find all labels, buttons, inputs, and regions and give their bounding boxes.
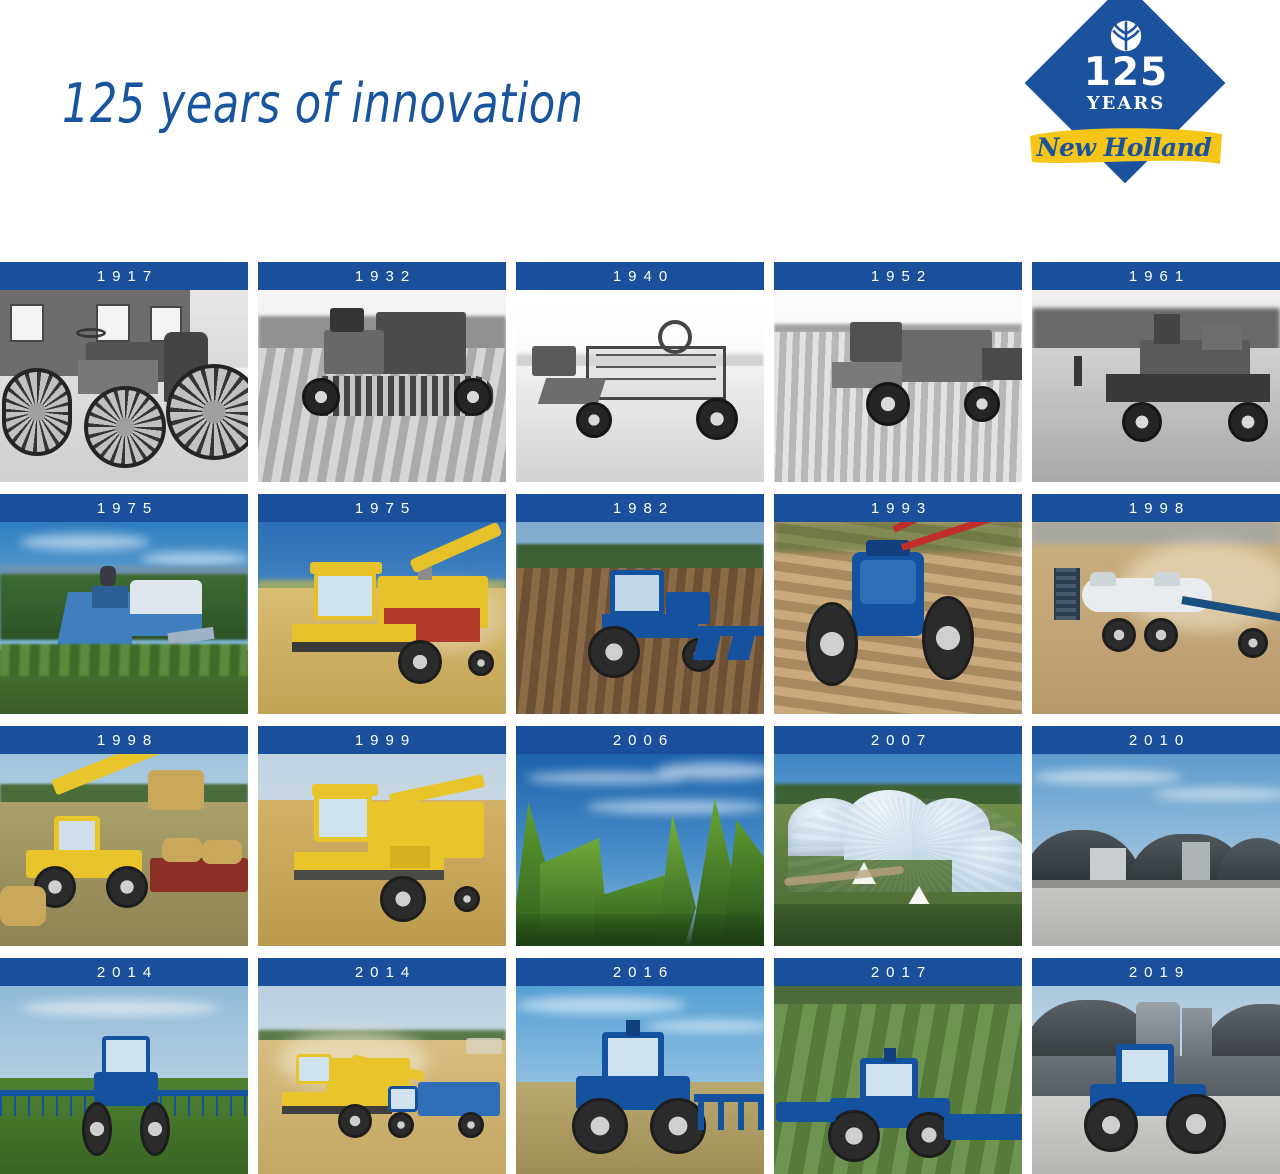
tile-photo-1975-combine-harvester <box>258 522 506 714</box>
timeline-tile[interactable]: 1952 <box>774 262 1022 482</box>
leaf-emblem-icon <box>1110 20 1142 52</box>
poster-page: 125 years of innovation 125 YEARS <box>0 0 1280 1174</box>
tile-year-label: 2019 <box>1032 958 1280 986</box>
timeline-tile[interactable]: 2017 <box>774 958 1022 1174</box>
timeline-tile[interactable]: 2014 <box>258 958 506 1174</box>
timeline-tile[interactable]: 1975 <box>258 494 506 714</box>
logo-years-label: YEARS <box>1087 95 1166 113</box>
timeline-tile[interactable]: 1917 <box>0 262 248 482</box>
tile-year-label: 2007 <box>774 726 1022 754</box>
tile-photo-2014-combine-unloading <box>258 986 506 1174</box>
tile-year-label: 1961 <box>1032 262 1280 290</box>
tile-year-label: 1982 <box>516 494 764 522</box>
timeline-tile[interactable]: 2006 <box>516 726 764 946</box>
timeline-tile[interactable]: 2016 <box>516 958 764 1174</box>
tile-photo-1999-tx-combine <box>258 754 506 946</box>
tile-year-label: 1975 <box>0 494 248 522</box>
timeline-tile[interactable]: 2007 <box>774 726 1022 946</box>
tile-photo-1961-forage-harvester <box>1032 290 1280 482</box>
tile-year-label: 2010 <box>1032 726 1280 754</box>
timeline-tile[interactable]: 1993 <box>774 494 1022 714</box>
tile-photo-1917-vintage-tractor <box>0 290 248 482</box>
timeline-tile[interactable]: 2019 <box>1032 958 1280 1174</box>
tile-year-label: 1940 <box>516 262 764 290</box>
tile-year-label: 1998 <box>0 726 248 754</box>
logo-content: 125 YEARS New Holland <box>1026 6 1226 206</box>
tile-year-label: 1999 <box>258 726 506 754</box>
timeline-tile[interactable]: 1998 <box>1032 494 1280 714</box>
new-holland-125-years-logo: 125 YEARS New Holland <box>1026 6 1226 206</box>
logo-brand-name: New Holland <box>1026 126 1222 170</box>
tile-year-label: 2014 <box>0 958 248 986</box>
tile-photo-2016-tractor-cultivator <box>516 986 764 1174</box>
timeline-tile[interactable]: 2014 <box>0 958 248 1174</box>
tile-year-label: 2016 <box>516 958 764 986</box>
tile-photo-2017-tractor-mower <box>774 986 1022 1174</box>
tile-photo-2007-eden-project <box>774 754 1022 946</box>
logo-number: 125 <box>1084 53 1168 92</box>
tile-year-label: 1998 <box>1032 494 1280 522</box>
tile-photo-1998-telehandler <box>0 754 248 946</box>
tile-photo-2014-sprayer <box>0 986 248 1174</box>
tile-year-label: 1917 <box>0 262 248 290</box>
tile-photo-1952-self-tying-baler <box>774 290 1022 482</box>
tile-photo-1998-air-seeder <box>1032 522 1280 714</box>
tile-year-label: 1932 <box>258 262 506 290</box>
tile-year-label: 1975 <box>258 494 506 522</box>
tile-photo-1940-pickup-baler <box>516 290 764 482</box>
timeline-tile[interactable]: 1975 <box>0 494 248 714</box>
tile-photo-1993-tractor-aerial <box>774 522 1022 714</box>
timeline-tile[interactable]: 2010 <box>1032 726 1280 946</box>
tile-photo-2019-methane-tractor <box>1032 986 1280 1174</box>
tile-photo-1932-crawler-tractor <box>258 290 506 482</box>
tile-photo-1982-tractor-with-plough <box>516 522 764 714</box>
timeline-tile[interactable]: 1932 <box>258 262 506 482</box>
timeline-tile[interactable]: 1940 <box>516 262 764 482</box>
tile-year-label: 1993 <box>774 494 1022 522</box>
tile-year-label: 2006 <box>516 726 764 754</box>
timeline-grid: 1917 1932 <box>0 262 1280 1174</box>
tile-year-label: 2014 <box>258 958 506 986</box>
timeline-tile[interactable]: 1982 <box>516 494 764 714</box>
timeline-tile[interactable]: 1961 <box>1032 262 1280 482</box>
timeline-tile[interactable]: 1999 <box>258 726 506 946</box>
tile-year-label: 2017 <box>774 958 1022 986</box>
tile-photo-2010-biogas-plant <box>1032 754 1280 946</box>
tile-photo-2006-corn-crop <box>516 754 764 946</box>
timeline-tile[interactable]: 1998 <box>0 726 248 946</box>
page-header: 125 years of innovation 125 YEARS <box>0 0 1280 258</box>
tile-photo-1975-grape-harvester <box>0 522 248 714</box>
tile-year-label: 1952 <box>774 262 1022 290</box>
page-title: 125 years of innovation <box>62 72 583 135</box>
